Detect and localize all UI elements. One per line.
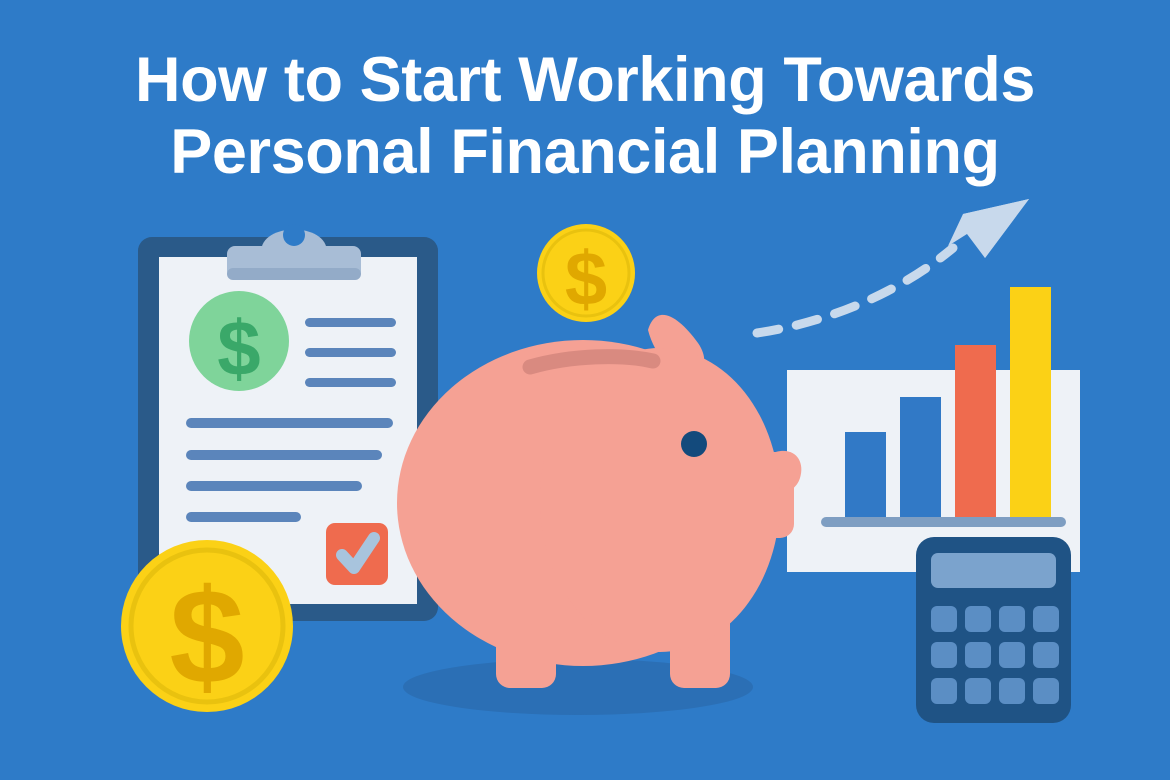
financial-planning-banner: $ $ — [0, 0, 1170, 780]
calculator — [916, 537, 1071, 723]
calculator-key[interactable] — [999, 678, 1025, 704]
calculator-key[interactable] — [931, 678, 957, 704]
calculator-key[interactable] — [931, 642, 957, 668]
paper-line-l3 — [186, 481, 362, 491]
calculator-display — [931, 553, 1056, 588]
chart-bar-2 — [900, 397, 941, 523]
paper-line-u3 — [305, 378, 396, 387]
calculator-key[interactable] — [1033, 606, 1059, 632]
piggy-head-blend — [540, 348, 780, 652]
coin-small-dollar-glyph: $ — [565, 237, 607, 322]
orange-checkbox — [326, 523, 388, 585]
chart-bar-3 — [955, 345, 996, 523]
illustration-canvas: $ $ — [0, 0, 1170, 780]
green-dollar-glyph: $ — [217, 304, 260, 392]
paper-line-u2 — [305, 348, 396, 357]
chart-shelf — [821, 517, 1066, 527]
calculator-key[interactable] — [999, 606, 1025, 632]
piggy-eye — [681, 431, 707, 457]
paper-line-u1 — [305, 318, 396, 327]
calculator-key[interactable] — [965, 678, 991, 704]
calculator-key[interactable] — [965, 606, 991, 632]
calculator-key[interactable] — [1033, 642, 1059, 668]
coin-large-bottom-left: $ — [121, 540, 293, 712]
coin-large-dollar-glyph: $ — [169, 561, 244, 712]
chart-bar-1 — [845, 432, 886, 523]
calculator-key[interactable] — [999, 642, 1025, 668]
chart-bar-4 — [1010, 287, 1051, 523]
paper-line-l1 — [186, 418, 393, 428]
paper-line-l4 — [186, 512, 301, 522]
calculator-key[interactable] — [931, 606, 957, 632]
coin-small-top: $ — [537, 224, 635, 322]
calculator-key[interactable] — [1033, 678, 1059, 704]
calculator-key[interactable] — [965, 642, 991, 668]
paper-line-l2 — [186, 450, 382, 460]
